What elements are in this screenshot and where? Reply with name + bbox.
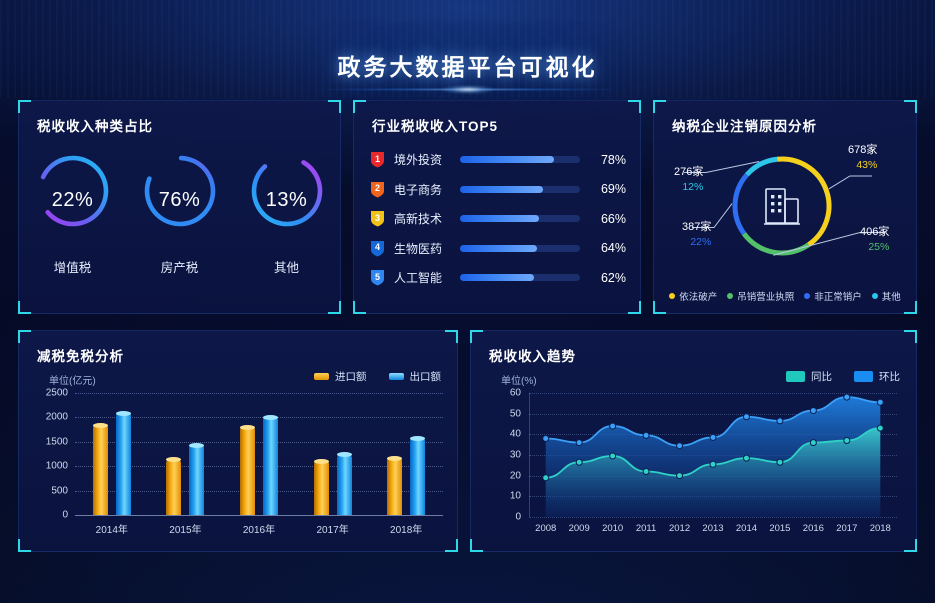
rank-badge-icon: 5 (370, 269, 385, 286)
bar-export[interactable] (189, 445, 204, 515)
donut-chart: 678家43%406家25%387家22%276家12% (654, 101, 916, 313)
gauge-2: 76%房产税 (126, 149, 233, 299)
corner-bracket-top-left (18, 330, 31, 343)
panel-cancel-reason: 纳税企业注销原因分析 678家43%406家25%387家22%276家12% … (653, 100, 917, 314)
legend-swatch-icon (786, 371, 805, 382)
progress-track (460, 245, 580, 252)
bar-export[interactable] (337, 455, 352, 516)
corner-bracket-bottom-right (628, 301, 641, 314)
page-title: 政务大数据平台可视化 (0, 48, 935, 82)
bar-cap (410, 436, 425, 441)
panel-tax-reduction: 减税免税分析 单位(亿元) 进口额出口额 0500100015002000250… (18, 330, 458, 552)
bar-group (149, 393, 223, 515)
bar-cap (189, 443, 204, 448)
rank-number: 1 (370, 151, 385, 168)
gridline (75, 515, 443, 516)
bar-groups (75, 393, 443, 515)
corner-bracket-top-left (353, 100, 366, 113)
bar-cap (387, 456, 402, 461)
axis-unit-label: 单位(亿元) (49, 372, 96, 387)
bar-import[interactable] (387, 458, 402, 515)
rank-row[interactable]: 1境外投资78% (370, 145, 626, 175)
rank-badge-icon: 3 (370, 210, 385, 227)
donut-svg (654, 101, 918, 315)
area-svg (529, 393, 897, 517)
legend-dot-icon (669, 293, 675, 299)
area-legend: 同比环比 (786, 369, 900, 384)
panel-tax-types: 税收收入种类占比 22%增值税76%房产税13%其他 (18, 100, 341, 314)
legend-label: 环比 (879, 369, 900, 384)
legend-item[interactable]: 非正常销户 (804, 289, 862, 303)
x-axis-tick: 2012 (663, 523, 696, 534)
gauge-label: 增值税 (19, 257, 126, 276)
bar-group (75, 393, 149, 515)
y-axis-tick: 500 (51, 485, 68, 496)
legend-dot-icon (727, 293, 733, 299)
corner-bracket-bottom-left (18, 539, 31, 552)
bar-import[interactable] (314, 461, 329, 515)
progress-track (460, 215, 580, 222)
gauge-group: 22%增值税76%房产税13%其他 (19, 149, 340, 299)
industry-name: 电子商务 (394, 181, 456, 198)
progress-fill (460, 215, 539, 222)
corner-bracket-bottom-right (445, 539, 458, 552)
legend-item[interactable]: 出口额 (389, 369, 442, 384)
y-axis-tick: 0 (515, 512, 521, 523)
x-axis-tick: 2016年 (222, 521, 296, 536)
donut-label: 387家22% (682, 220, 711, 249)
industry-percent: 66% (590, 212, 626, 226)
x-axis-tick: 2011 (629, 523, 662, 534)
legend-swatch-icon (389, 373, 404, 380)
y-axis-tick: 0 (62, 510, 68, 521)
building-icon (764, 189, 800, 224)
panel-title: 税收收入趋势 (489, 345, 576, 365)
donut-label-percent: 25% (860, 240, 889, 254)
industry-name: 高新技术 (394, 210, 456, 227)
industry-percent: 69% (590, 182, 626, 196)
gauge-value: 13% (233, 189, 340, 212)
progress-fill (460, 186, 543, 193)
donut-label: 678家43% (848, 143, 877, 172)
rank-row[interactable]: 2电子商务69% (370, 175, 626, 205)
panel-tax-trend: 税收收入趋势 单位(%) 同比环比 0102030405060 20082009… (470, 330, 917, 552)
panel-industry-top5: 行业税收收入TOP5 1境外投资78%2电子商务69%3高新技术66%4生物医药… (353, 100, 641, 314)
legend-label: 依法破产 (679, 289, 717, 303)
legend-label: 进口额 (335, 369, 367, 384)
legend-item[interactable]: 进口额 (314, 369, 367, 384)
bar-group (296, 393, 370, 515)
bar-export[interactable] (263, 417, 278, 515)
bar-cap (116, 411, 131, 416)
corner-bracket-bottom-left (353, 301, 366, 314)
legend-item[interactable]: 环比 (854, 369, 900, 384)
corner-bracket-top-right (628, 100, 641, 113)
x-axis-tick: 2018年 (369, 521, 443, 536)
dashboard-root: 政务大数据平台可视化 税收收入种类占比 22%增值税76%房产税13%其他 行业… (0, 0, 935, 603)
panel-title: 行业税收收入TOP5 (372, 115, 498, 135)
corner-bracket-bottom-right (328, 301, 341, 314)
legend-dot-icon (804, 293, 810, 299)
y-axis-tick: 2000 (46, 412, 68, 423)
y-axis-tick: 30 (510, 450, 521, 461)
header-glow-dot (433, 84, 503, 95)
x-axis-tick: 2014年 (75, 521, 149, 536)
bar-x-axis-labels: 2014年2015年2016年2017年2018年 (75, 521, 443, 536)
gauge-1: 22%增值税 (19, 149, 126, 299)
corner-bracket-top-left (18, 100, 31, 113)
x-axis-tick: 2015年 (149, 521, 223, 536)
x-axis-tick: 2016 (797, 523, 830, 534)
legend-dot-icon (872, 293, 878, 299)
bar-cap (166, 457, 181, 462)
corner-bracket-bottom-left (470, 539, 483, 552)
donut-label-percent: 43% (848, 158, 877, 172)
bar-group (369, 393, 443, 515)
rank-list: 1境外投资78%2电子商务69%3高新技术66%4生物医药64%5人工智能62% (370, 145, 626, 293)
y-axis-tick: 50 (510, 408, 521, 419)
legend-label: 同比 (811, 369, 832, 384)
y-axis-tick: 40 (510, 429, 521, 440)
x-axis-tick: 2010 (596, 523, 629, 534)
bar-group (222, 393, 296, 515)
corner-bracket-top-right (445, 330, 458, 343)
industry-name: 境外投资 (394, 151, 456, 168)
progress-fill (460, 274, 534, 281)
industry-name: 生物医药 (394, 240, 456, 257)
rank-number: 5 (370, 269, 385, 286)
bar-legend: 进口额出口额 (314, 369, 441, 384)
donut-legend: 依法破产吊销营业执照非正常销户其他 (654, 289, 916, 303)
donut-label-count: 678家 (848, 143, 877, 158)
bar-plot-area: 05001000150020002500 (75, 393, 443, 515)
donut-label-count: 276家 (674, 165, 703, 180)
bar-import[interactable] (93, 425, 108, 515)
bar-export[interactable] (410, 438, 425, 515)
y-axis-tick: 20 (510, 470, 521, 481)
donut-label-percent: 22% (682, 235, 711, 249)
gridline (529, 517, 897, 518)
x-axis-tick: 2017 (830, 523, 863, 534)
area-x-axis-labels: 2008200920102011201220132014201520162017… (529, 523, 897, 534)
area-plot-area: 0102030405060 (529, 393, 897, 517)
rank-number: 3 (370, 210, 385, 227)
donut-label-count: 387家 (682, 220, 711, 235)
bar-cap (337, 452, 352, 457)
rank-badge-icon: 4 (370, 240, 385, 257)
gauge-value: 76% (126, 189, 233, 212)
donut-label-percent: 12% (674, 180, 703, 194)
x-axis-tick: 2018 (864, 523, 897, 534)
legend-label: 吊销营业执照 (737, 289, 794, 303)
industry-percent: 78% (590, 153, 626, 167)
bar-import[interactable] (240, 427, 255, 515)
legend-item[interactable]: 吊销营业执照 (727, 289, 794, 303)
donut-label: 276家12% (674, 165, 703, 194)
panel-title: 税收收入种类占比 (37, 115, 153, 135)
x-axis-tick: 2017年 (296, 521, 370, 536)
bar-cap (314, 459, 329, 464)
x-axis-tick: 2008 (529, 523, 562, 534)
industry-name: 人工智能 (394, 269, 456, 286)
y-axis-tick: 1500 (46, 436, 68, 447)
x-axis-tick: 2014 (730, 523, 763, 534)
progress-track (460, 186, 580, 193)
rank-row[interactable]: 4生物医药64% (370, 234, 626, 264)
donut-label: 406家25% (860, 225, 889, 254)
y-axis-tick: 2500 (46, 388, 68, 399)
bar-export[interactable] (116, 413, 131, 515)
y-axis-tick: 1000 (46, 461, 68, 472)
gauge-value: 22% (19, 189, 126, 212)
panel-title: 减税免税分析 (37, 345, 124, 365)
bar-cap (263, 415, 278, 420)
rank-badge-icon: 1 (370, 151, 385, 168)
bar-cap (240, 425, 255, 430)
gauge-label: 其他 (233, 257, 340, 276)
progress-fill (460, 156, 554, 163)
bar-cap (93, 423, 108, 428)
x-axis-tick: 2013 (696, 523, 729, 534)
donut-label-count: 406家 (860, 225, 889, 240)
legend-item[interactable]: 其他 (872, 289, 901, 303)
rank-badge-icon: 2 (370, 181, 385, 198)
legend-item[interactable]: 依法破产 (669, 289, 717, 303)
rank-number: 2 (370, 181, 385, 198)
corner-bracket-bottom-left (18, 301, 31, 314)
progress-fill (460, 245, 537, 252)
y-axis-tick: 10 (510, 491, 521, 502)
bar-import[interactable] (166, 460, 181, 515)
progress-track (460, 156, 580, 163)
legend-label: 非正常销户 (814, 289, 862, 303)
gauge-label: 房产税 (126, 257, 233, 276)
legend-item[interactable]: 同比 (786, 369, 832, 384)
corner-bracket-bottom-right (904, 539, 917, 552)
corner-bracket-top-right (328, 100, 341, 113)
y-axis-tick: 60 (510, 388, 521, 399)
industry-percent: 64% (590, 241, 626, 255)
legend-label: 其他 (882, 289, 901, 303)
gauge-3: 13%其他 (233, 149, 340, 299)
corner-bracket-top-right (904, 330, 917, 343)
x-axis-tick: 2015 (763, 523, 796, 534)
legend-label: 出口额 (410, 369, 442, 384)
axis-unit-label: 单位(%) (501, 372, 537, 387)
legend-swatch-icon (854, 371, 873, 382)
rank-row[interactable]: 3高新技术66% (370, 204, 626, 234)
x-axis-tick: 2009 (562, 523, 595, 534)
legend-swatch-icon (314, 373, 329, 380)
progress-track (460, 274, 580, 281)
industry-percent: 62% (590, 271, 626, 285)
corner-bracket-top-left (470, 330, 483, 343)
rank-row[interactable]: 5人工智能62% (370, 263, 626, 293)
rank-number: 4 (370, 240, 385, 257)
